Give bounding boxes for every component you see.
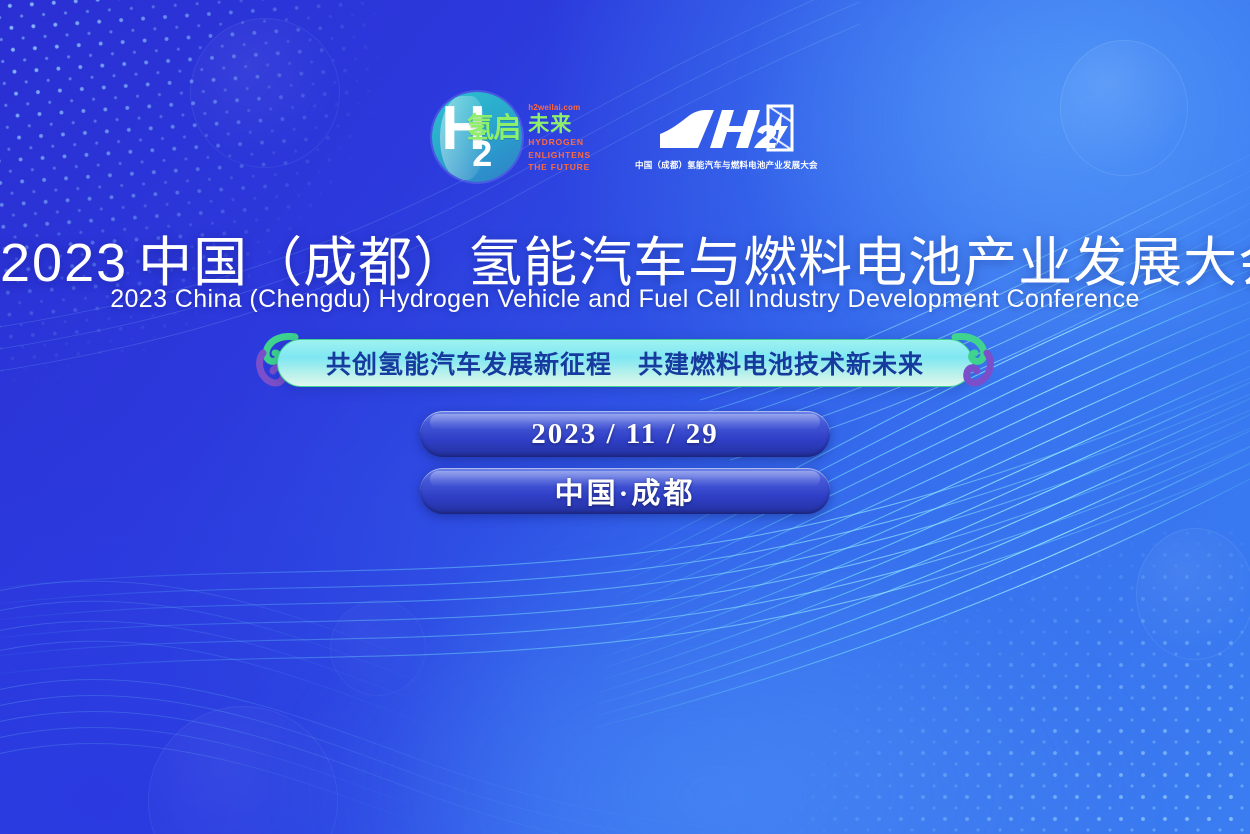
event-date-text: 2023 / 11 / 29	[531, 418, 719, 451]
bubble-decoration	[1136, 528, 1250, 660]
ribbon-swirl-right-icon	[949, 333, 995, 391]
h2-conference-logo-subtitle: 中国（成都）氢能汽车与燃料电池产业发展大会	[635, 159, 818, 171]
event-date-pill: 2023 / 11 / 29	[420, 411, 830, 457]
hydrogen-emblem-tagline-2: ENLIGHTENS	[528, 149, 591, 162]
hydrogen-emblem-tagline-1: HYDROGEN	[528, 136, 591, 149]
slogan-ribbon: 共创氢能汽车发展新征程 共建燃料电池技术新未来	[255, 339, 995, 387]
page-subtitle-english: 2023 China (Chengdu) Hydrogen Vehicle an…	[0, 285, 1250, 314]
event-location-pill: 中国·成都	[420, 468, 830, 514]
page-title-year: 2023	[0, 233, 128, 293]
hydrogen-circle-emblem-icon: H 2 氢启	[432, 92, 522, 182]
hydrogen-emblem-text-block: h2weilai.com 未来 HYDROGEN ENLIGHTENS THE …	[528, 100, 591, 174]
logo-row: H 2 氢启 h2weilai.com 未来 HYDROGEN ENLIGHTE…	[0, 92, 1250, 182]
event-location-text: 中国·成都	[555, 470, 696, 512]
hydrogen-emblem-logo: H 2 氢启 h2weilai.com 未来 HYDROGEN ENLIGHTE…	[432, 92, 591, 182]
page-title-main: 中国（成都）氢能汽车与燃料电池产业发展大会	[138, 233, 1250, 293]
slogan-ribbon-body: 共创氢能汽车发展新征程 共建燃料电池技术新未来	[277, 339, 973, 387]
hydrogen-emblem-domain: h2weilai.com	[528, 104, 591, 113]
h2-conference-logo: 中国（成都）氢能汽车与燃料电池产业发展大会	[635, 104, 818, 171]
hydrogen-emblem-tagline-3: THE FUTURE	[528, 161, 591, 174]
h2-car-battery-icon	[658, 104, 794, 156]
conference-poster: H 2 氢启 h2weilai.com 未来 HYDROGEN ENLIGHTE…	[0, 0, 1250, 834]
hydrogen-emblem-chinese-name: 未来	[528, 113, 591, 136]
bubble-decoration	[330, 600, 426, 696]
slogan-text: 共创氢能汽车发展新征程 共建燃料电池技术新未来	[326, 345, 924, 381]
emblem-chinese-mark: 氢启	[466, 106, 520, 146]
